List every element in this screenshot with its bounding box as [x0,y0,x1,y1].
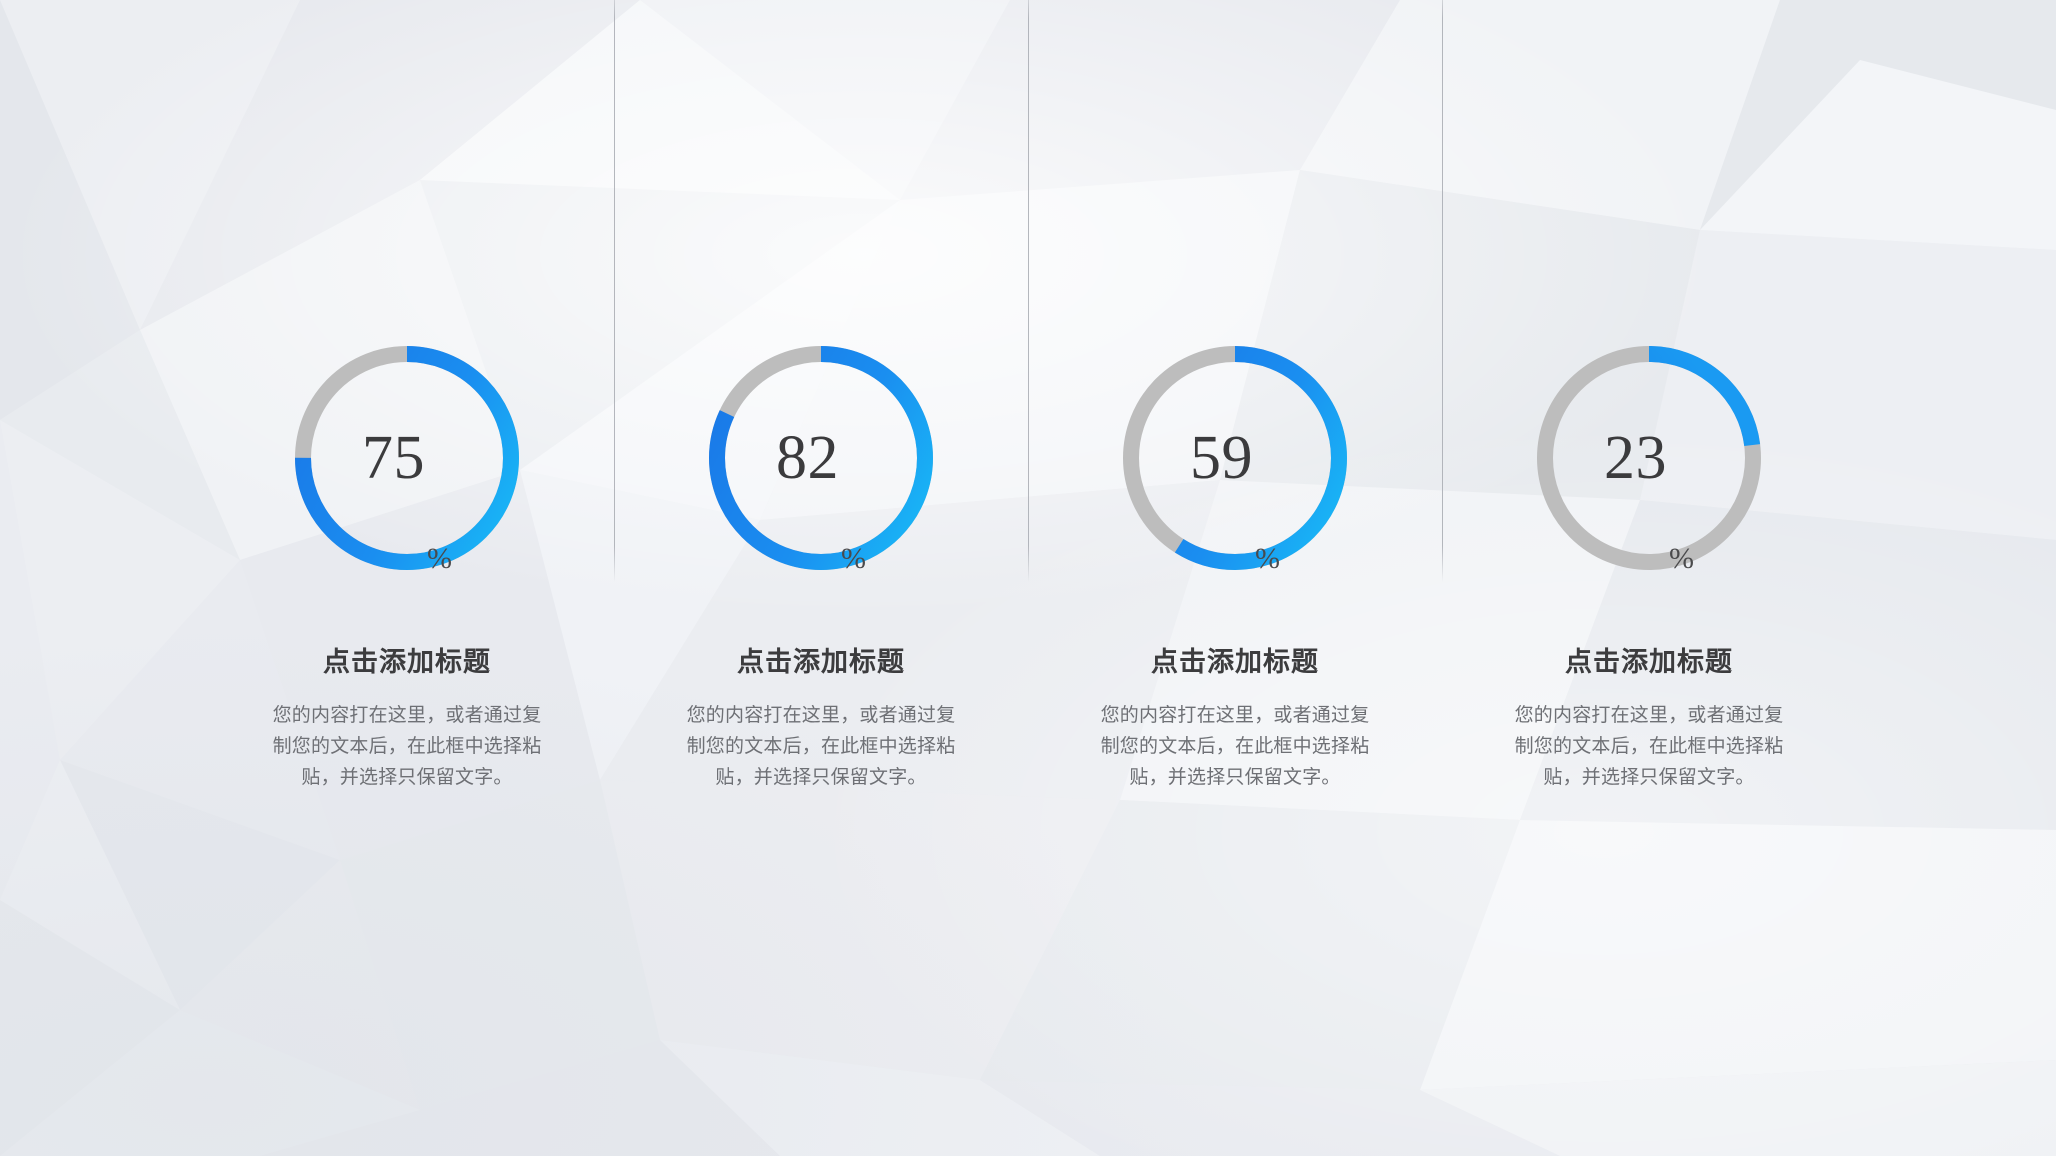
card-body-3[interactable]: 您的内容打在这里，或者通过复制您的文本后，在此框中选择粘贴，并选择只保留文字。 [1097,701,1373,793]
donut-chart-3[interactable]: 59 % [1115,338,1355,578]
card-body-1[interactable]: 您的内容打在这里，或者通过复制您的文本后，在此框中选择粘贴，并选择只保留文字。 [269,701,545,793]
donut-chart-1[interactable]: 75 % [287,338,527,578]
slide-canvas: 75 % 点击添加标题 您的内容打在这里，或者通过复制您的文本后，在此框中选择粘… [0,0,2056,1156]
card-title-3[interactable]: 点击添加标题 [1151,640,1319,679]
donut-column: 75 % 点击添加标题 您的内容打在这里，或者通过复制您的文本后，在此框中选择粘… [200,0,614,793]
card-body-4[interactable]: 您的内容打在这里，或者通过复制您的文本后，在此框中选择粘贴，并选择只保留文字。 [1511,701,1787,793]
donut-svg-3 [1115,338,1355,578]
donut-column: 82 % 点击添加标题 您的内容打在这里，或者通过复制您的文本后，在此框中选择粘… [614,0,1028,793]
donut-svg-2 [701,338,941,578]
card-title-1[interactable]: 点击添加标题 [323,640,491,679]
card-title-2[interactable]: 点击添加标题 [737,640,905,679]
donut-chart-4[interactable]: 23 % [1529,338,1769,578]
donut-column: 59 % 点击添加标题 您的内容打在这里，或者通过复制您的文本后，在此框中选择粘… [1028,0,1442,793]
donut-column: 23 % 点击添加标题 您的内容打在这里，或者通过复制您的文本后，在此框中选择粘… [1442,0,1856,793]
donut-svg-1 [287,338,527,578]
card-title-4[interactable]: 点击添加标题 [1565,640,1733,679]
card-body-2[interactable]: 您的内容打在这里，或者通过复制您的文本后，在此框中选择粘贴，并选择只保留文字。 [683,701,959,793]
donut-chart-2[interactable]: 82 % [701,338,941,578]
donut-columns-container: 75 % 点击添加标题 您的内容打在这里，或者通过复制您的文本后，在此框中选择粘… [0,0,2056,1156]
donut-svg-4 [1529,338,1769,578]
